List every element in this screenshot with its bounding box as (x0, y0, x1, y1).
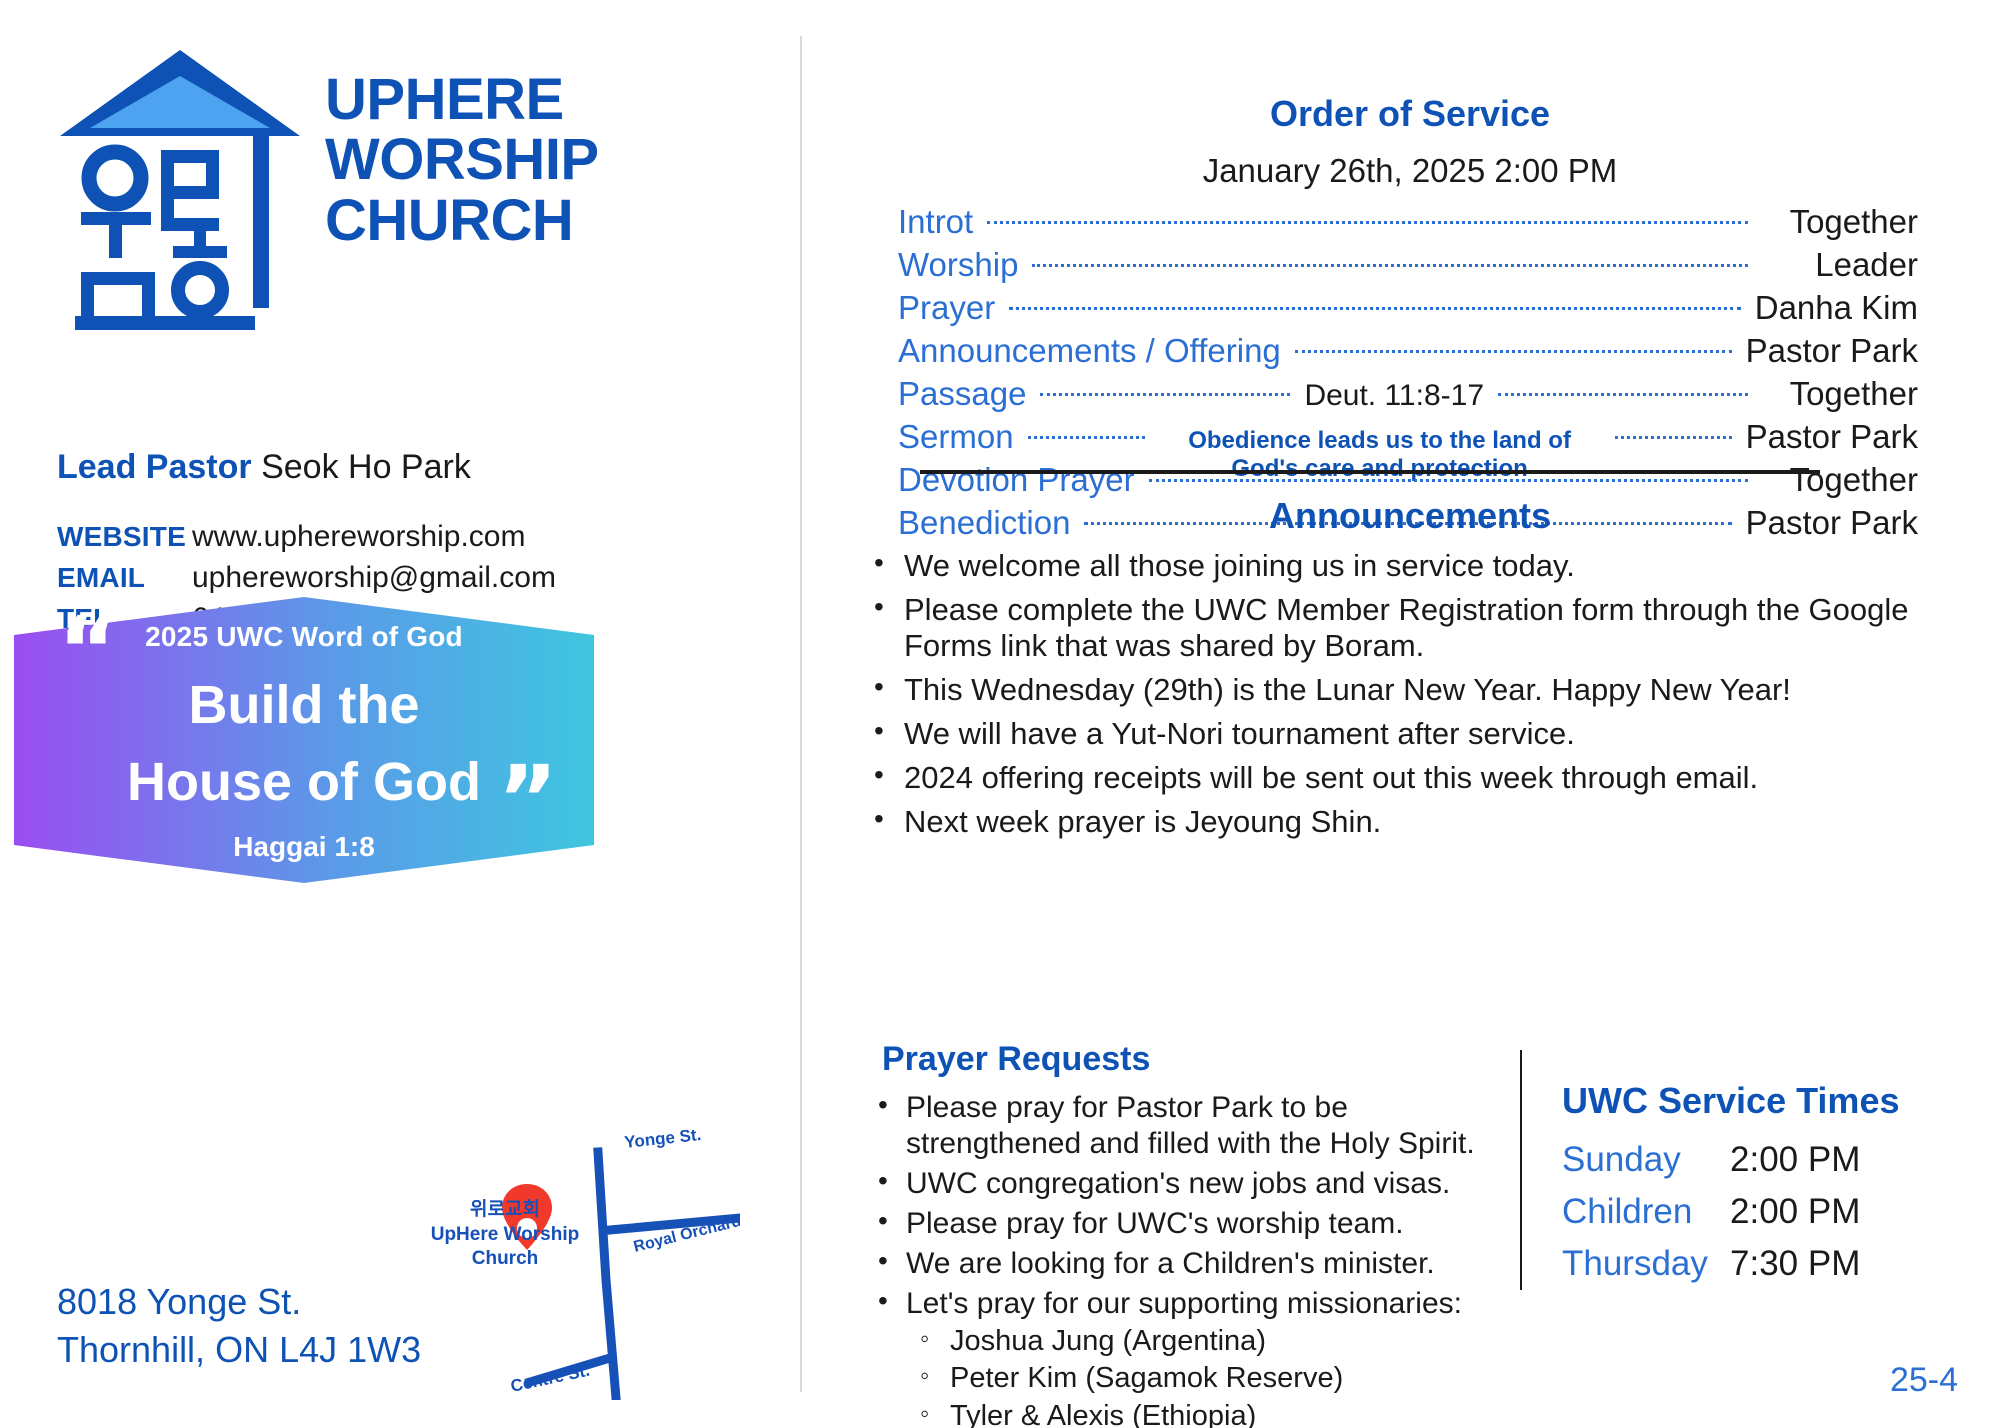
leader-dots (1032, 264, 1748, 267)
order-item-name: Devotion Prayer (898, 461, 1149, 499)
order-item-name: Prayer (898, 289, 1009, 327)
prayer-request-item: Please pray for UWC's worship team. (862, 1206, 1482, 1242)
quote-close-icon: ” (498, 772, 558, 827)
section-divider (920, 470, 1820, 474)
lead-pastor: Lead Pastor Seok Ho Park (57, 448, 471, 487)
prayer-request-item: Please pray for Pastor Park to be streng… (862, 1090, 1482, 1162)
service-times-table: Sunday 2:00 PM Children 2:00 PM Thursday… (1562, 1140, 1860, 1296)
left-column: UPHERE WORSHIP CHURCH Lead Pastor Seok H… (0, 0, 800, 1428)
page-number: 25-4 (1890, 1361, 1958, 1400)
church-name: UPHERE WORSHIP CHURCH (325, 70, 599, 251)
lead-pastor-name: Seok Ho Park (261, 448, 471, 486)
leader-dots (1615, 436, 1732, 439)
missionaries-list: Joshua Jung (Argentina) Peter Kim (Sagam… (906, 1324, 1482, 1428)
contact-value-website[interactable]: www.uphereworship.com (192, 520, 525, 554)
leader-dots (1009, 307, 1741, 310)
prayer-request-text: Let's pray for our supporting missionari… (906, 1287, 1462, 1320)
service-day: Children (1562, 1192, 1730, 1232)
service-time-row: Children 2:00 PM (1562, 1192, 1860, 1244)
banner-reference: Haggai 1:8 (14, 831, 594, 863)
banner-kicker: 2025 UWC Word of God (14, 621, 594, 653)
location-map[interactable]: Yonge St. Royal Orchard Blvd. Centre St.… (420, 1130, 740, 1400)
prayer-request-item: We are looking for a Children's minister… (862, 1246, 1482, 1282)
order-item-who: Together (1748, 461, 1918, 499)
service-time-row: Sunday 2:00 PM (1562, 1140, 1860, 1192)
church-logo: UPHERE WORSHIP CHURCH (55, 40, 735, 330)
order-row: Sermon Obedience leads us to the land of… (898, 418, 1918, 461)
service-times-title: UWC Service Times (1562, 1080, 1899, 1122)
prayer-request-item: Let's pray for our supporting missionari… (862, 1286, 1482, 1428)
announcements-list: We welcome all those joining us in servi… (862, 548, 1972, 848)
map-street-yonge: Yonge St. (623, 1130, 702, 1152)
order-item-name: Passage (898, 375, 1040, 413)
leader-dots (1040, 393, 1290, 396)
order-row: Introt Together (898, 203, 1918, 246)
church-name-line1: UPHERE (325, 70, 599, 130)
announcement-item: We will have a Yut-Nori tournament after… (862, 716, 1972, 752)
service-time: 2:00 PM (1730, 1140, 1860, 1180)
order-item-name: Announcements / Offering (898, 332, 1295, 370)
service-times-divider (1520, 1050, 1522, 1290)
leader-dots (1295, 350, 1732, 353)
announcement-item: This Wednesday (29th) is the Lunar New Y… (862, 672, 1972, 708)
order-row: Passage Deut. 11:8-17 Together (898, 375, 1918, 418)
service-time: 2:00 PM (1730, 1192, 1860, 1232)
order-item-who: Pastor Park (1732, 332, 1918, 370)
leader-dots (1498, 393, 1748, 396)
order-row: Prayer Danha Kim (898, 289, 1918, 332)
order-item-who: Danha Kim (1741, 289, 1918, 327)
order-row: Worship Leader (898, 246, 1918, 289)
order-item-who: Together (1748, 203, 1918, 241)
banner-title-line1: Build the (14, 667, 594, 744)
leader-dots (1028, 436, 1145, 439)
prayer-request-item: UWC congregation's new jobs and visas. (862, 1166, 1482, 1202)
order-row: Announcements / Offering Pastor Park (898, 332, 1918, 375)
contact-row-website: WEBSITE www.uphereworship.com (57, 520, 677, 561)
order-item-name: Worship (898, 246, 1032, 284)
service-day: Thursday (1562, 1244, 1730, 1284)
order-item-who: Pastor Park (1732, 418, 1918, 456)
leader-dots (987, 221, 1748, 224)
contact-value-email[interactable]: uphereworship@gmail.com (192, 561, 556, 595)
order-item-who: Together (1748, 375, 1918, 413)
bulletin-page: UPHERE WORSHIP CHURCH Lead Pastor Seok H… (0, 0, 2000, 1428)
missionary-item: Tyler & Alexis (Ethiopia) (906, 1399, 1482, 1428)
map-label-korean: 위로교회 (470, 1198, 540, 1220)
prayer-requests-title: Prayer Requests (882, 1040, 1150, 1079)
announcement-item: 2024 offering receipts will be sent out … (862, 760, 1972, 796)
address-line2: Thornhill, ON L4J 1W3 (57, 1326, 421, 1374)
service-day: Sunday (1562, 1140, 1730, 1180)
announcement-item: We welcome all those joining us in servi… (862, 548, 1972, 584)
address-line1: 8018 Yonge St. (57, 1278, 421, 1326)
contact-label-website: WEBSITE (57, 521, 192, 553)
order-of-service-date: January 26th, 2025 2:00 PM (820, 152, 2000, 190)
service-time: 7:30 PM (1730, 1244, 1860, 1284)
announcement-item: Next week prayer is Jeyoung Shin. (862, 804, 1972, 840)
order-item-who: Leader (1748, 246, 1918, 284)
church-name-line3: CHURCH (325, 191, 599, 251)
map-label-line1: UpHere Worship (431, 1224, 580, 1245)
missionary-item: Peter Kim (Sagamok Reserve) (906, 1361, 1482, 1396)
order-of-service-title: Order of Service (820, 93, 2000, 135)
announcements-title: Announcements (820, 495, 2000, 537)
right-column: Order of Service January 26th, 2025 2:00… (820, 0, 2000, 1428)
announcement-item: Please complete the UWC Member Registrat… (862, 592, 1972, 664)
service-time-row: Thursday 7:30 PM (1562, 1244, 1860, 1296)
map-street-centre: Centre St. (509, 1361, 591, 1396)
church-logo-mark (55, 40, 305, 330)
contact-label-email: EMAIL (57, 562, 192, 594)
map-label-line2: Church (472, 1248, 539, 1269)
church-name-line2: WORSHIP (325, 130, 599, 190)
column-divider (800, 36, 802, 1392)
prayer-requests-list: Please pray for Pastor Park to be streng… (862, 1090, 1482, 1428)
church-address: 8018 Yonge St. Thornhill, ON L4J 1W3 (57, 1278, 421, 1373)
word-of-god-banner: “ 2025 UWC Word of God Build the House o… (14, 595, 594, 885)
order-item-name: Sermon (898, 418, 1028, 456)
lead-pastor-label: Lead Pastor (57, 448, 252, 486)
leader-dots (1149, 479, 1748, 482)
missionary-item: Joshua Jung (Argentina) (906, 1324, 1482, 1359)
order-item-passage: Deut. 11:8-17 (1290, 379, 1498, 413)
order-item-name: Introt (898, 203, 987, 241)
